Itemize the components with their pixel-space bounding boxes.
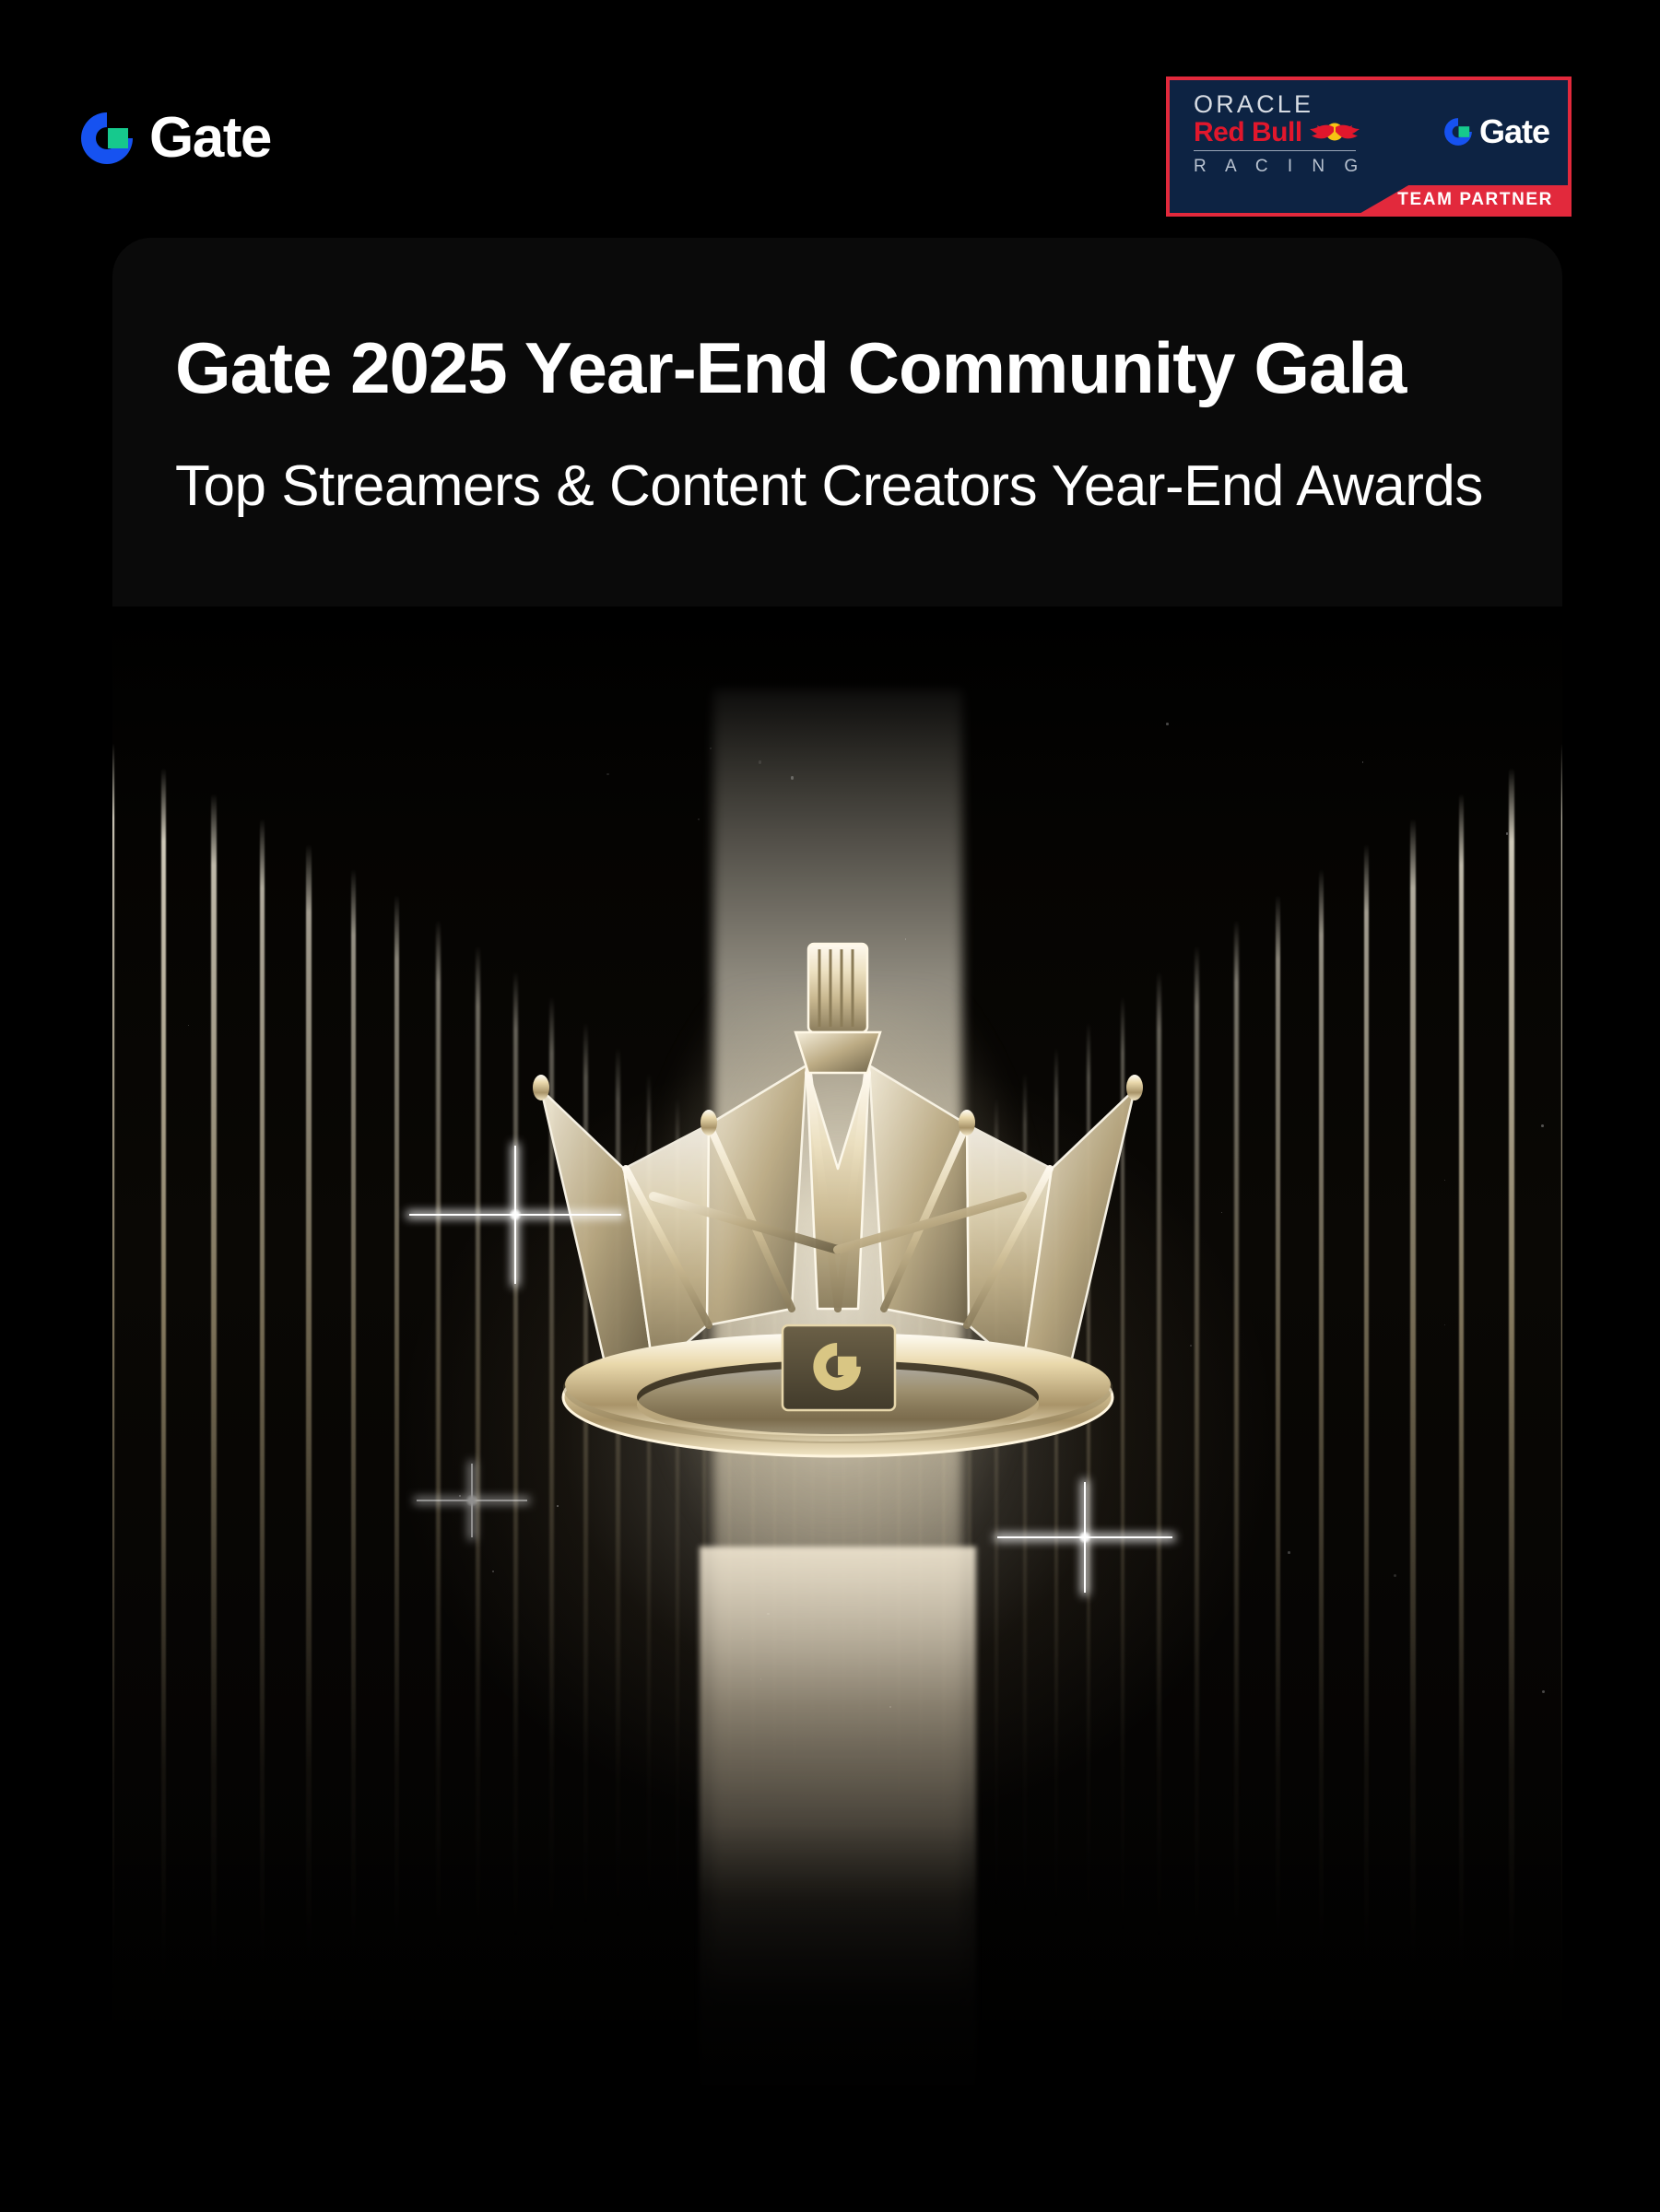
dust-particle (1506, 832, 1508, 834)
dust-particle (1444, 1180, 1445, 1181)
light-slat (1195, 946, 1199, 1948)
red-bull-row: Red Bull (1194, 119, 1378, 147)
dust-particle (1190, 1345, 1192, 1347)
red-bull-racing-partner-badge[interactable]: ORACLE Red Bull R A C I N G (1166, 76, 1572, 217)
light-slat (306, 844, 311, 1971)
badge-gate-lockup: Gate (1442, 115, 1549, 148)
light-slat (394, 895, 399, 1960)
gate-logo-icon (1442, 116, 1474, 147)
light-slat (161, 768, 167, 1988)
event-card[interactable]: Gate 2025 Year-End Community Gala Top St… (112, 238, 1562, 2212)
dust-particle (459, 1495, 461, 1497)
light-slat (211, 794, 217, 1983)
page-subtitle: Top Streamers & Content Creators Year-En… (175, 453, 1500, 520)
hero-image (112, 606, 1562, 2212)
light-slat (1319, 869, 1324, 1965)
racing-wordmark: R A C I N G (1194, 154, 1378, 181)
dust-particle (1542, 1690, 1545, 1693)
page-root: Gate ORACLE Red Bull (0, 0, 1660, 2212)
badge-divider (1194, 150, 1356, 151)
light-slat (1276, 895, 1280, 1960)
dust-particle (1221, 1212, 1222, 1213)
light-slat (1459, 794, 1465, 1983)
red-bull-icon (1306, 122, 1363, 144)
badge-red-bull-lockup: ORACLE Red Bull R A C I N G (1194, 91, 1378, 181)
light-slat (260, 818, 265, 1977)
dust-particle (1541, 1124, 1544, 1127)
gate-logo-icon (77, 109, 136, 168)
team-partner-label: TEAM PARTNER (1397, 190, 1553, 210)
crown-icon (515, 892, 1160, 1519)
gate-brand-wordmark: Gate (149, 110, 271, 167)
light-slat (476, 946, 480, 1948)
light-slat (1364, 844, 1369, 1971)
dust-particle (759, 760, 761, 763)
badge-inner: ORACLE Red Bull R A C I N G (1170, 80, 1568, 213)
oracle-wordmark: ORACLE (1194, 91, 1378, 117)
dust-particle (710, 747, 712, 749)
dust-particle (791, 776, 794, 779)
dust-particle (1362, 761, 1364, 763)
floor-vignette (112, 1825, 1562, 2212)
light-slat (1561, 743, 1562, 1994)
dust-particle (188, 1025, 190, 1027)
light-slat (112, 743, 114, 1994)
light-slat (1509, 768, 1514, 1988)
light-slat (1234, 920, 1239, 1954)
page-title: Gate 2025 Year-End Community Gala (175, 321, 1500, 416)
red-bull-wordmark: Red Bull (1194, 119, 1302, 147)
page-header: Gate ORACLE Red Bull (0, 0, 1660, 244)
badge-gate-wordmark: Gate (1479, 115, 1549, 148)
dust-particle (492, 1571, 494, 1572)
dust-particle (1288, 1551, 1290, 1554)
light-slat (1410, 818, 1416, 1977)
dust-particle (1166, 723, 1169, 725)
light-slat (436, 920, 441, 1954)
card-text-block: Gate 2025 Year-End Community Gala Top St… (112, 238, 1562, 520)
dust-particle (1444, 1324, 1445, 1325)
light-slat (351, 869, 356, 1965)
dust-particle (606, 773, 608, 775)
dust-particle (1394, 1574, 1396, 1577)
crown-gate-plaque (783, 1325, 895, 1410)
dust-particle (698, 818, 700, 820)
gate-brand-logo[interactable]: Gate (77, 109, 271, 168)
